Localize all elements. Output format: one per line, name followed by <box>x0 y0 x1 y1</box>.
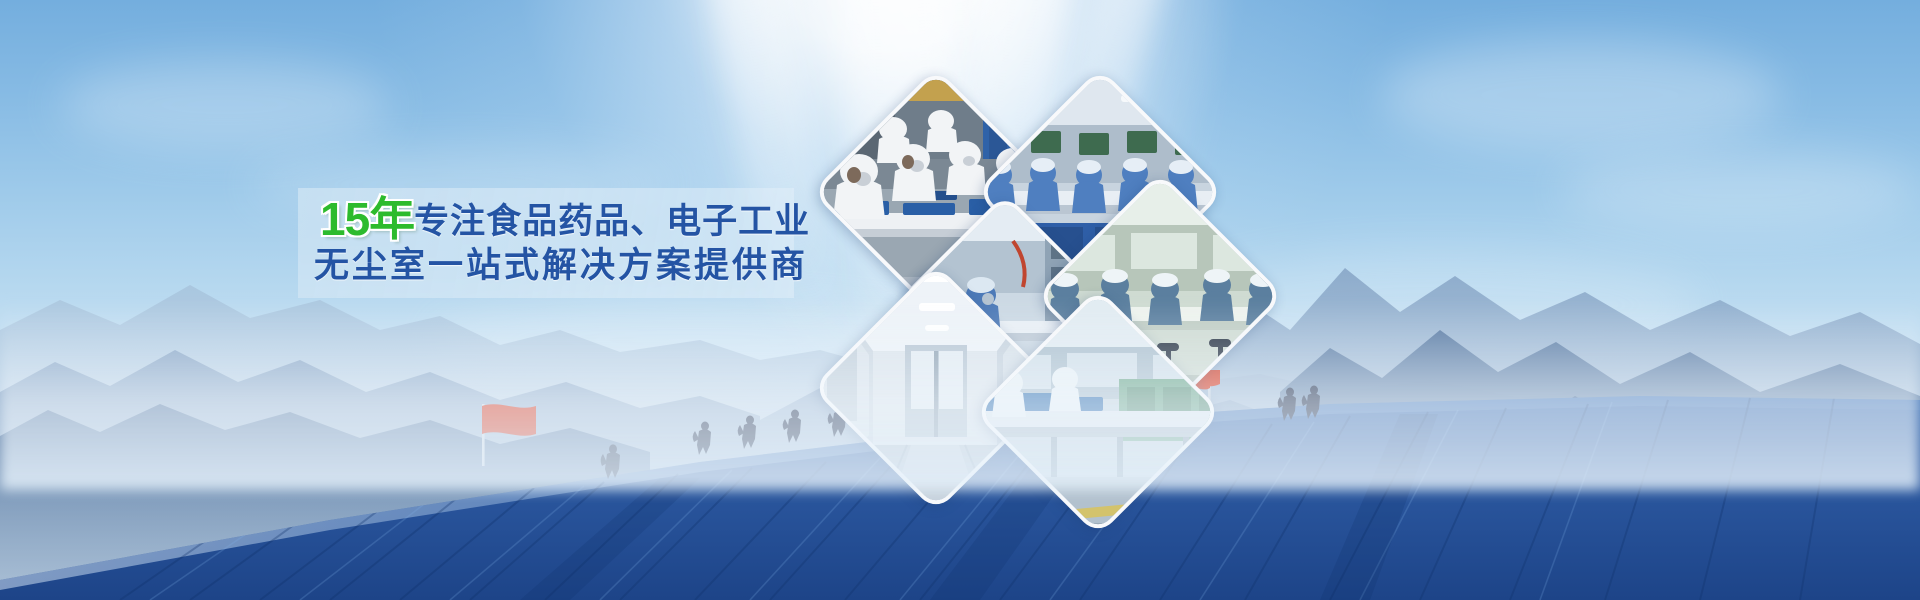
years-badge: 15年 <box>320 193 414 245</box>
atmospheric-haze <box>0 300 1920 490</box>
headline-block: 15年专注食品药品、电子工业 无尘室一站式解决方案提供商 <box>300 196 800 283</box>
headline-line-2: 无尘室一站式解决方案提供商 <box>300 248 800 283</box>
headline-line-2-text: 无尘室一站式解决方案提供商 <box>314 246 808 285</box>
headline-line-1-rest: 专注食品药品、电子工业 <box>414 202 810 241</box>
headline-line-1: 15年专注食品药品、电子工业 <box>300 196 800 242</box>
hero-banner: 15年专注食品药品、电子工业 无尘室一站式解决方案提供商 <box>0 0 1920 600</box>
